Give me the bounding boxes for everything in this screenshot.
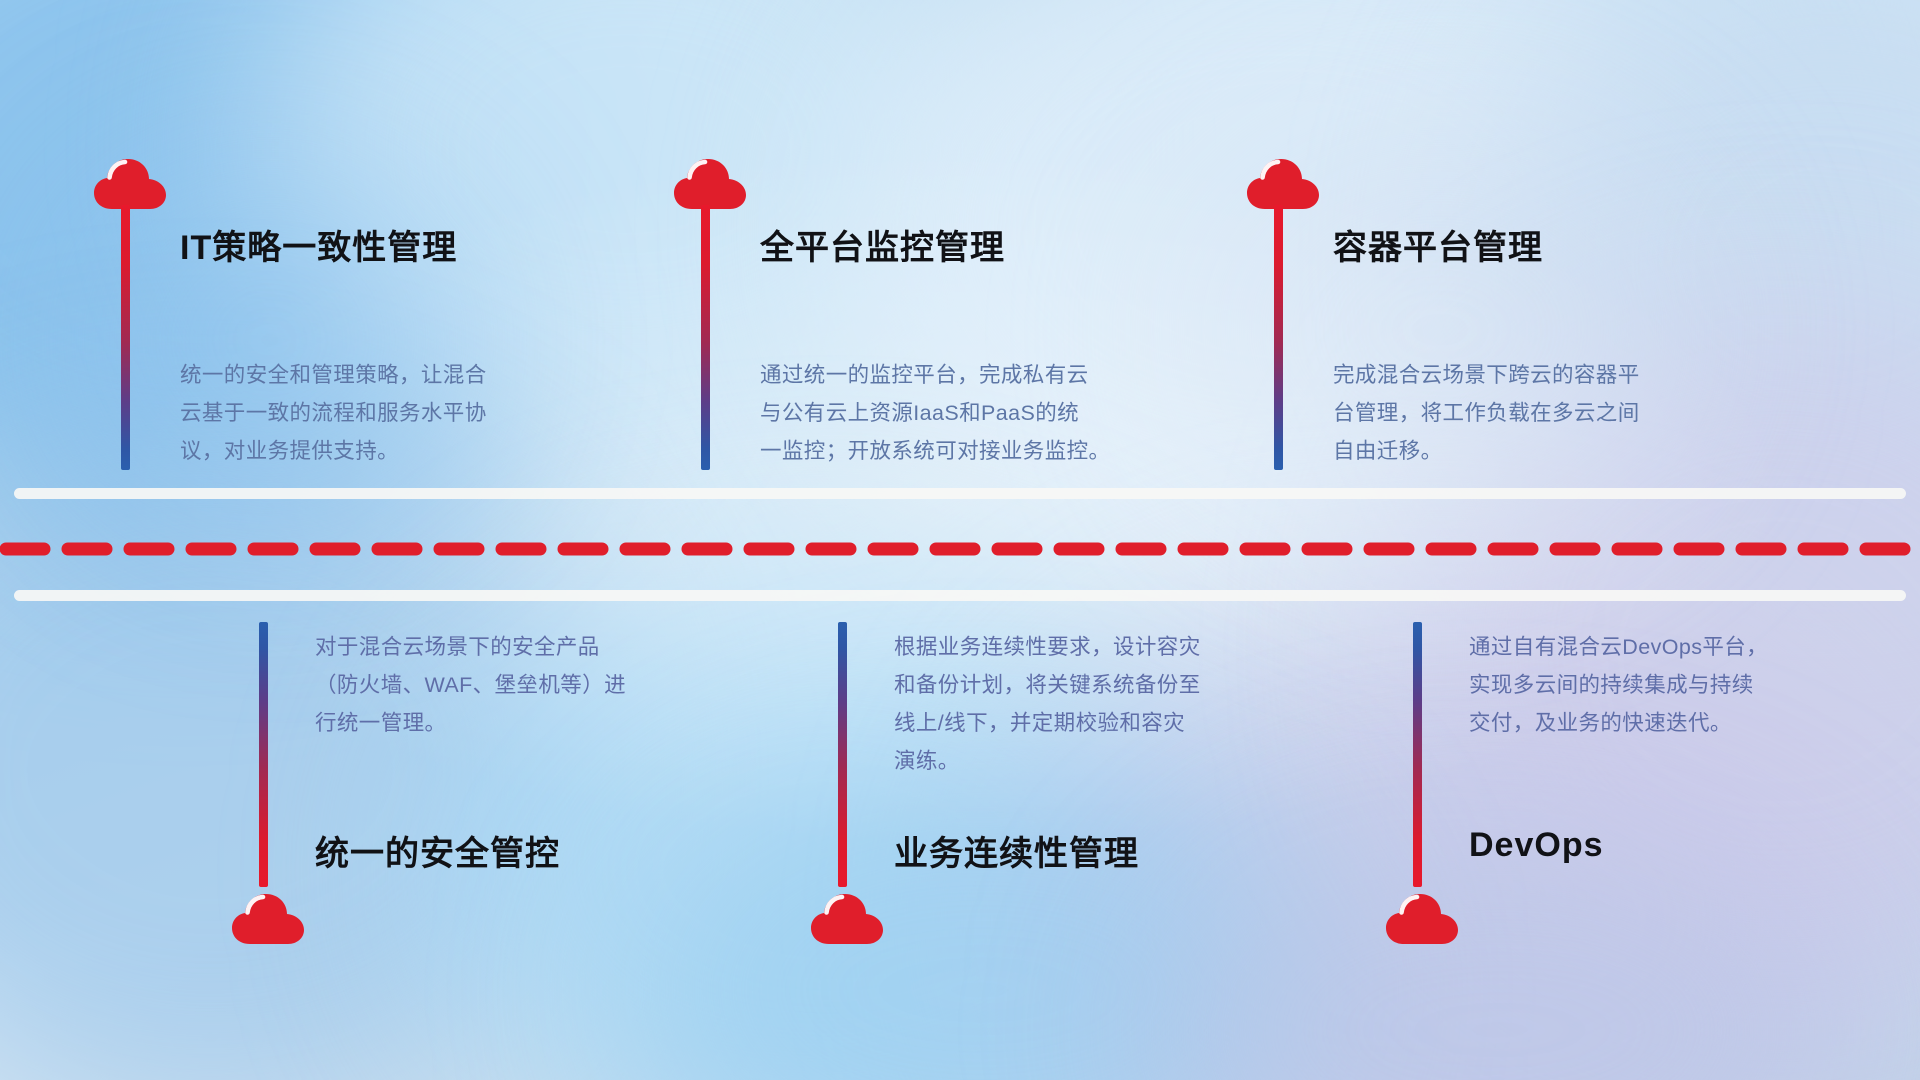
bottom-item-title: 统一的安全管控 xyxy=(315,826,560,875)
cloud-icon xyxy=(1384,890,1460,946)
bottom-item-title: DevOps xyxy=(1469,826,1604,865)
connector-stem xyxy=(121,205,130,470)
divider-rule-bottom xyxy=(14,590,1906,601)
cloud-icon xyxy=(230,890,306,946)
bottom-item-title: 业务连续性管理 xyxy=(894,826,1139,875)
bottom-item-body: 对于混合云场景下的安全产品 （防火墙、WAF、堡垒机等）进 行统一管理。 xyxy=(315,628,745,742)
connector-stem xyxy=(1274,205,1283,470)
bottom-item-body: 根据业务连续性要求，设计容灾 和备份计划，将关键系统备份至 线上/线下，并定期校… xyxy=(894,628,1334,780)
top-item-title: 容器平台管理 xyxy=(1333,220,1543,269)
connector-stem xyxy=(701,205,710,470)
divider-dashed-line xyxy=(0,542,1920,556)
cloud-icon xyxy=(1245,155,1321,211)
bottom-item-body: 通过自有混合云DevOps平台， 实现多云间的持续集成与持续 交付，及业务的快速… xyxy=(1469,628,1909,742)
connector-stem xyxy=(259,622,268,887)
cloud-icon xyxy=(92,155,168,211)
top-item-title: IT策略一致性管理 xyxy=(180,220,457,269)
connector-stem xyxy=(838,622,847,887)
connector-stem xyxy=(1413,622,1422,887)
cloud-icon xyxy=(809,890,885,946)
top-item-body: 完成混合云场景下跨云的容器平 台管理，将工作负载在多云之间 自由迁移。 xyxy=(1333,356,1773,470)
top-item-title: 全平台监控管理 xyxy=(760,220,1005,269)
top-item-body: 统一的安全和管理策略，让混合 云基于一致的流程和服务水平协 议，对业务提供支持。 xyxy=(180,356,610,470)
top-item-body: 通过统一的监控平台，完成私有云 与公有云上资源IaaS和PaaS的统 一监控；开… xyxy=(760,356,1210,470)
cloud-icon xyxy=(672,155,748,211)
divider-rule-top xyxy=(14,488,1906,499)
